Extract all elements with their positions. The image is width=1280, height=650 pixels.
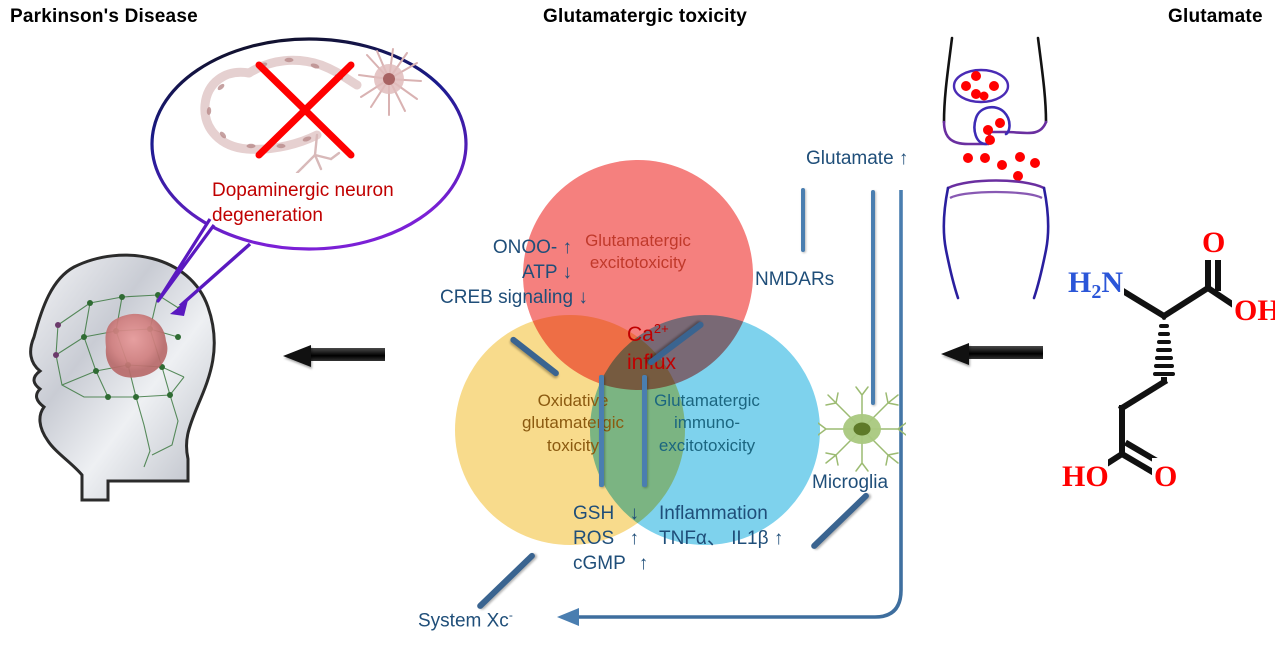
svg-text:OH: OH <box>1234 294 1275 327</box>
speech-bubble: Dopaminergic neuron degeneration <box>150 35 470 250</box>
svg-text:HO: HO <box>1062 460 1109 493</box>
arrow-right-to-venn <box>941 343 1043 361</box>
connector-bar-system-xc <box>476 552 536 610</box>
page-title-right: Glutamate <box>1168 6 1263 28</box>
system-xc-superscript: - <box>509 608 513 622</box>
bubble-pointer-line <box>150 240 330 330</box>
svg-text:O: O <box>1202 230 1225 259</box>
glutamate-molecule: H2N O OH HO O <box>1060 230 1275 500</box>
stereo-hash-bond <box>1155 326 1173 374</box>
label-system-xc: System Xc- <box>418 608 513 633</box>
arrow-left-to-brain <box>283 345 385 363</box>
bubble-text-line2: degeneration <box>212 205 323 227</box>
svg-text:O: O <box>1154 460 1177 493</box>
degenerating-neuron-icon <box>185 43 435 173</box>
microglia-icon <box>818 385 906 473</box>
synapse-icon <box>928 30 1064 306</box>
system-xc-text: System Xc <box>418 610 509 631</box>
bubble-text-line1: Dopaminergic neuron <box>212 180 394 202</box>
page-title-left: Parkinson's Disease <box>10 6 198 28</box>
page-title-center: Glutamatergic toxicity <box>543 6 747 28</box>
label-glutamate-up: Glutamate ↑ <box>806 148 908 170</box>
